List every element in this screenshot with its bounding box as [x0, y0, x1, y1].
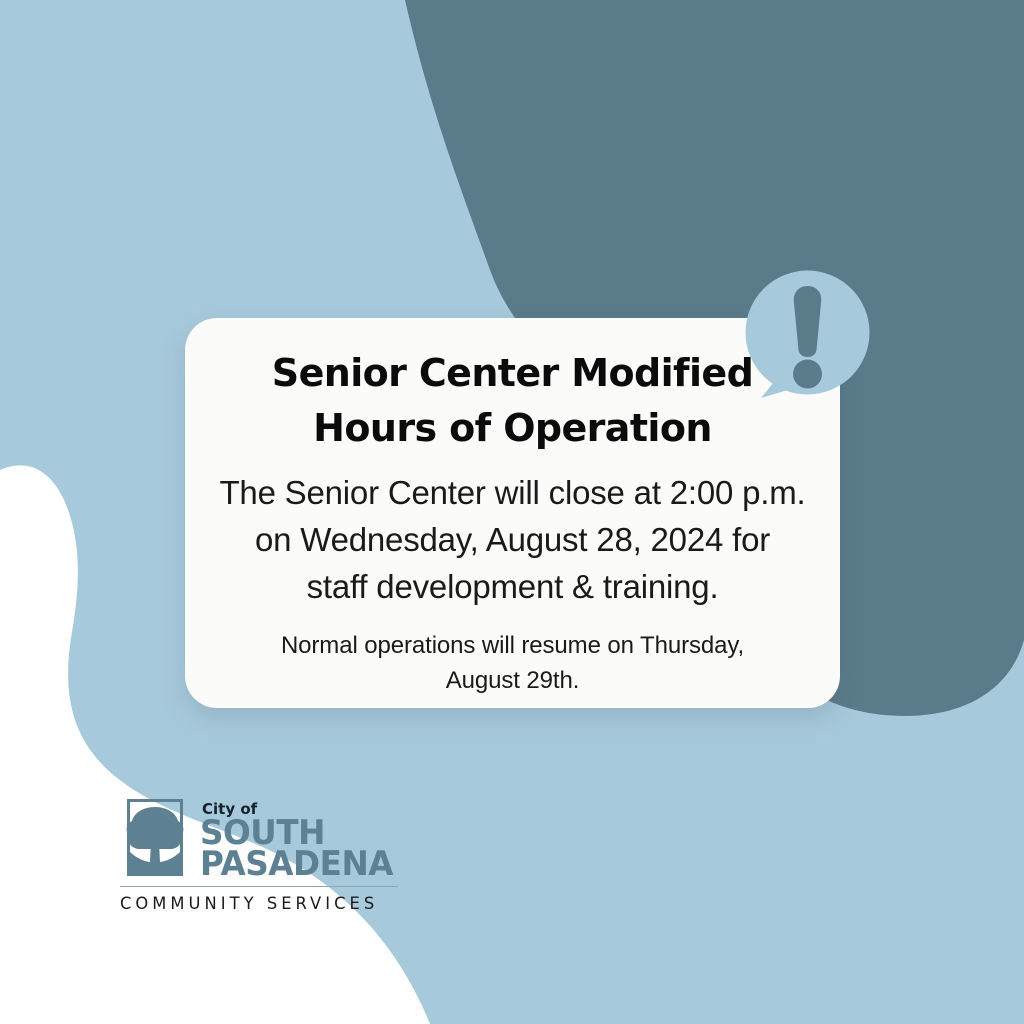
exclamation-speech-bubble-icon: [735, 262, 880, 407]
logo-tagline: COMMUNITY SERVICES: [120, 894, 398, 914]
card-body-line-1: The Senior Center will close at 2:00 p.m…: [219, 470, 806, 517]
logo-divider: [120, 886, 398, 887]
logo-wordmark: City of SOUTH PASADENA: [200, 798, 401, 881]
card-subnote-line-2: August 29th.: [237, 664, 788, 699]
announcement-poster: Senior Center Modified Hours of Operatio…: [0, 0, 1024, 1024]
card-subnote-line-1: Normal operations will resume on Thursda…: [237, 629, 788, 664]
card-title-line-2: Hours of Operation: [245, 401, 780, 456]
card-body-line-2: on Wednesday, August 28, 2024 for: [219, 517, 806, 564]
card-title-line-1: Senior Center Modified: [245, 346, 780, 401]
logo-top-row: City of SOUTH PASADENA: [120, 798, 410, 881]
city-logo: City of SOUTH PASADENA COMMUNITY SERVICE…: [120, 798, 410, 914]
exclamation-dot-icon: [793, 360, 822, 389]
card-subnote-text: Normal operations will resume on Thursda…: [185, 629, 840, 699]
logo-word-pasadena: PASADENA: [200, 849, 393, 880]
card-body-line-3: staff development & training.: [219, 564, 806, 611]
oak-tree-in-frame-icon: [120, 798, 192, 878]
card-body-text: The Senior Center will close at 2:00 p.m…: [185, 470, 840, 611]
